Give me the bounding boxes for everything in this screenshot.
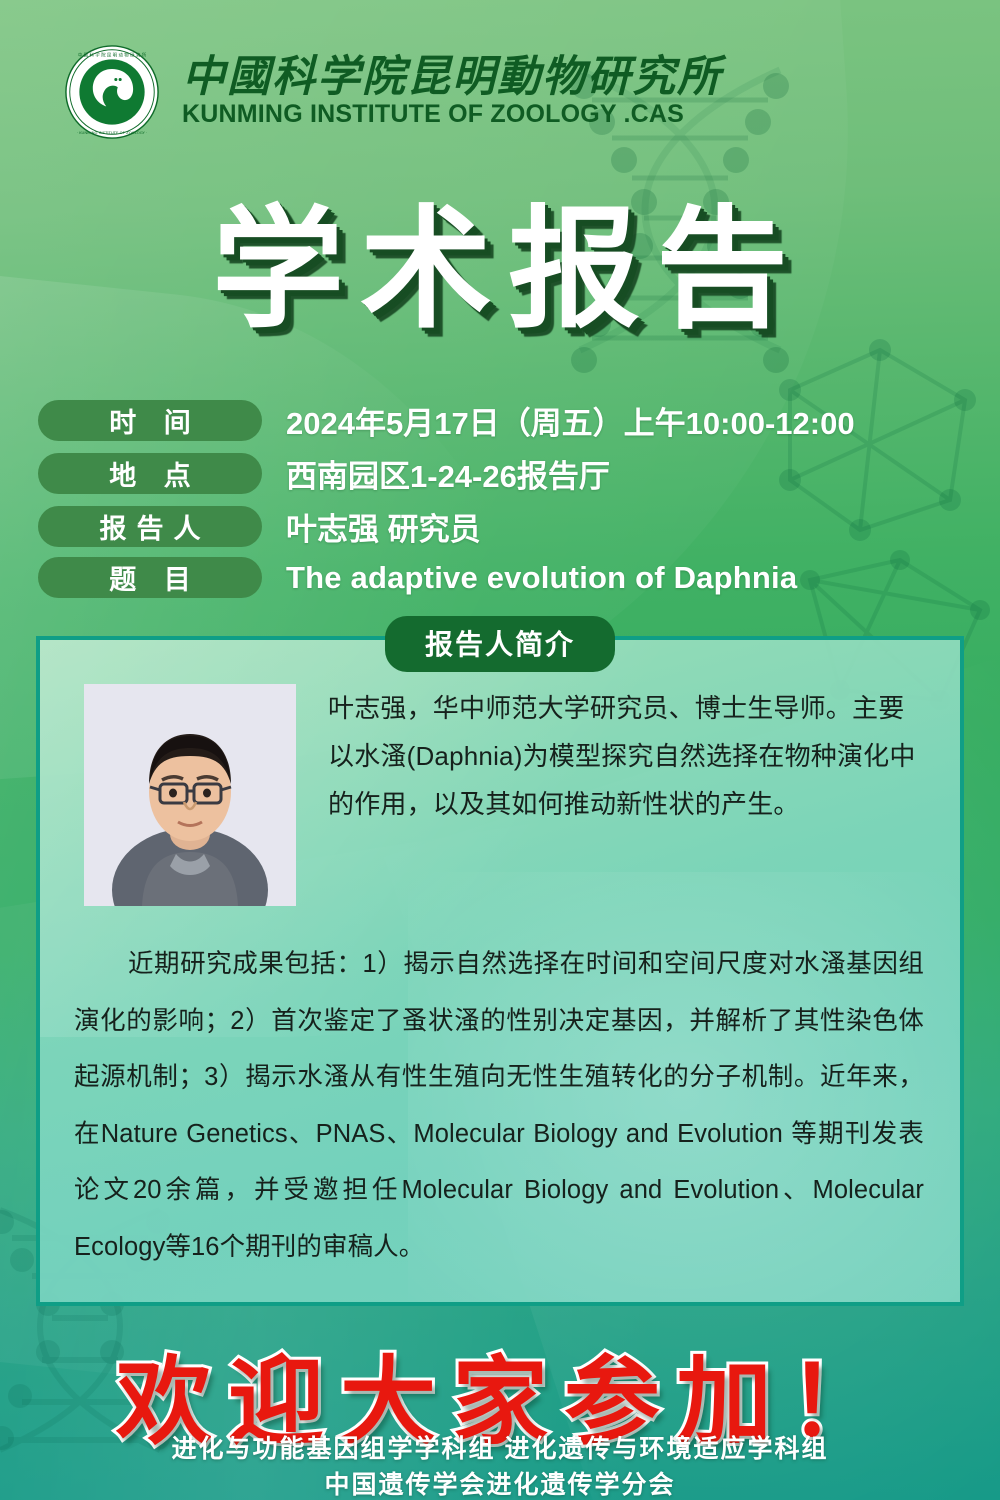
footer-line-1: 进化与功能基因组学学科组 进化遗传与环境适应学科组 xyxy=(0,1432,1000,1468)
info-row-location: 地 点 西南园区1-24-26报告厅 xyxy=(38,451,855,496)
poster-footer: 进化与功能基因组学学科组 进化遗传与环境适应学科组 中国遗传学会进化遗传学分会 xyxy=(0,1432,1000,1500)
info-row-time: 时 间 2024年5月17日（周五）上午10:00-12:00 xyxy=(38,398,855,443)
speaker-bio-card: 叶志强，华中师范大学研究员、博士生导师。主要以水溞(Daphnia)为模型探究自… xyxy=(36,636,964,1306)
bio-intro-text: 叶志强，华中师范大学研究员、博士生导师。主要以水溞(Daphnia)为模型探究自… xyxy=(328,684,926,906)
info-value-speaker: 叶志强 研究员 xyxy=(286,504,481,549)
info-label-topic: 题 目 xyxy=(38,557,262,598)
seminar-poster: 中 国 科 学 院 昆 明 动 物 研 究 所 · KUNMING INSTIT… xyxy=(0,0,1000,1500)
bio-body-text: 近期研究成果包括：1）揭示自然选择在时间和空间尺度对水溞基因组演化的影响；2）首… xyxy=(74,936,924,1276)
institute-name-cn: 中國科学院昆明動物研究所 xyxy=(182,56,722,100)
info-label-location: 地 点 xyxy=(38,453,262,494)
institute-header: 中 国 科 学 院 昆 明 动 物 研 究 所 · KUNMING INSTIT… xyxy=(64,44,722,140)
speaker-portrait xyxy=(84,684,296,906)
footer-line-2: 中国遗传学会进化遗传学分会 xyxy=(0,1468,1000,1500)
portrait-illustration-icon xyxy=(84,684,296,906)
info-value-topic: The adaptive evolution of Daphnia xyxy=(286,560,797,596)
info-value-location: 西南园区1-24-26报告厅 xyxy=(286,451,610,496)
bio-body-content: 近期研究成果包括：1）揭示自然选择在时间和空间尺度对水溞基因组演化的影响；2）首… xyxy=(74,950,924,1261)
event-info-list: 时 间 2024年5月17日（周五）上午10:00-12:00 地 点 西南园区… xyxy=(38,398,855,598)
info-label-speaker: 报告人 xyxy=(38,506,262,547)
institute-seal-logo-icon: 中 国 科 学 院 昆 明 动 物 研 究 所 · KUNMING INSTIT… xyxy=(64,44,160,140)
info-row-speaker: 报告人 叶志强 研究员 xyxy=(38,504,855,549)
info-row-topic: 题 目 The adaptive evolution of Daphnia xyxy=(38,557,855,598)
bio-top-section: 叶志强，华中师范大学研究员、博士生导师。主要以水溞(Daphnia)为模型探究自… xyxy=(40,640,960,906)
poster-title: 学术报告 xyxy=(0,196,1000,344)
info-label-time: 时 间 xyxy=(38,400,262,441)
info-value-time: 2024年5月17日（周五）上午10:00-12:00 xyxy=(286,398,855,443)
speaker-bio-badge: 报告人简介 xyxy=(385,616,615,672)
svg-text:· KUNMING INSTITUTE OF ZOOLOGY: · KUNMING INSTITUTE OF ZOOLOGY · xyxy=(77,130,148,135)
institute-name-en: KUNMING INSTITUTE OF ZOOLOGY .CAS xyxy=(182,101,722,127)
